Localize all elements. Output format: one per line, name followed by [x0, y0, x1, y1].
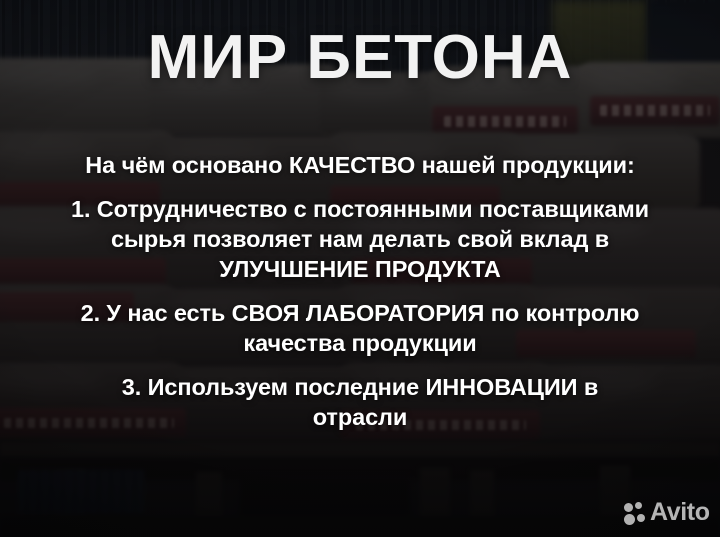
- intro-line: На чём основано КАЧЕСТВО нашей продукции…: [14, 150, 706, 180]
- spacer: [14, 284, 706, 298]
- point-3-line-2: отрасли: [14, 402, 706, 432]
- avito-watermark: Avito: [624, 500, 710, 525]
- avito-wordmark: Avito: [650, 500, 710, 525]
- avito-dots-logo-icon: [624, 502, 646, 524]
- spacer: [14, 358, 706, 372]
- point-1-line-3: УЛУЧШЕНИЕ ПРОДУКТА: [14, 254, 706, 284]
- point-2-line-1: 2. У нас есть СВОЯ ЛАБОРАТОРИЯ по контро…: [14, 298, 706, 328]
- headline: МИР БЕТОНА: [0, 27, 720, 89]
- point-2-line-2: качества продукции: [14, 328, 706, 358]
- advertisement-image: МИР БЕТОНА На чём основано КАЧЕСТВО наше…: [0, 0, 720, 537]
- point-3-line-1: 3. Используем последние ИННОВАЦИИ в: [14, 372, 706, 402]
- spacer: [14, 180, 706, 194]
- point-1-line-1: 1. Сотрудничество с постоянными поставщи…: [14, 194, 706, 224]
- text-content: МИР БЕТОНА На чём основано КАЧЕСТВО наше…: [0, 0, 720, 537]
- quality-points-block: На чём основано КАЧЕСТВО нашей продукции…: [14, 150, 706, 432]
- point-1-line-2: сырья позволяет нам делать свой вклад в: [14, 224, 706, 254]
